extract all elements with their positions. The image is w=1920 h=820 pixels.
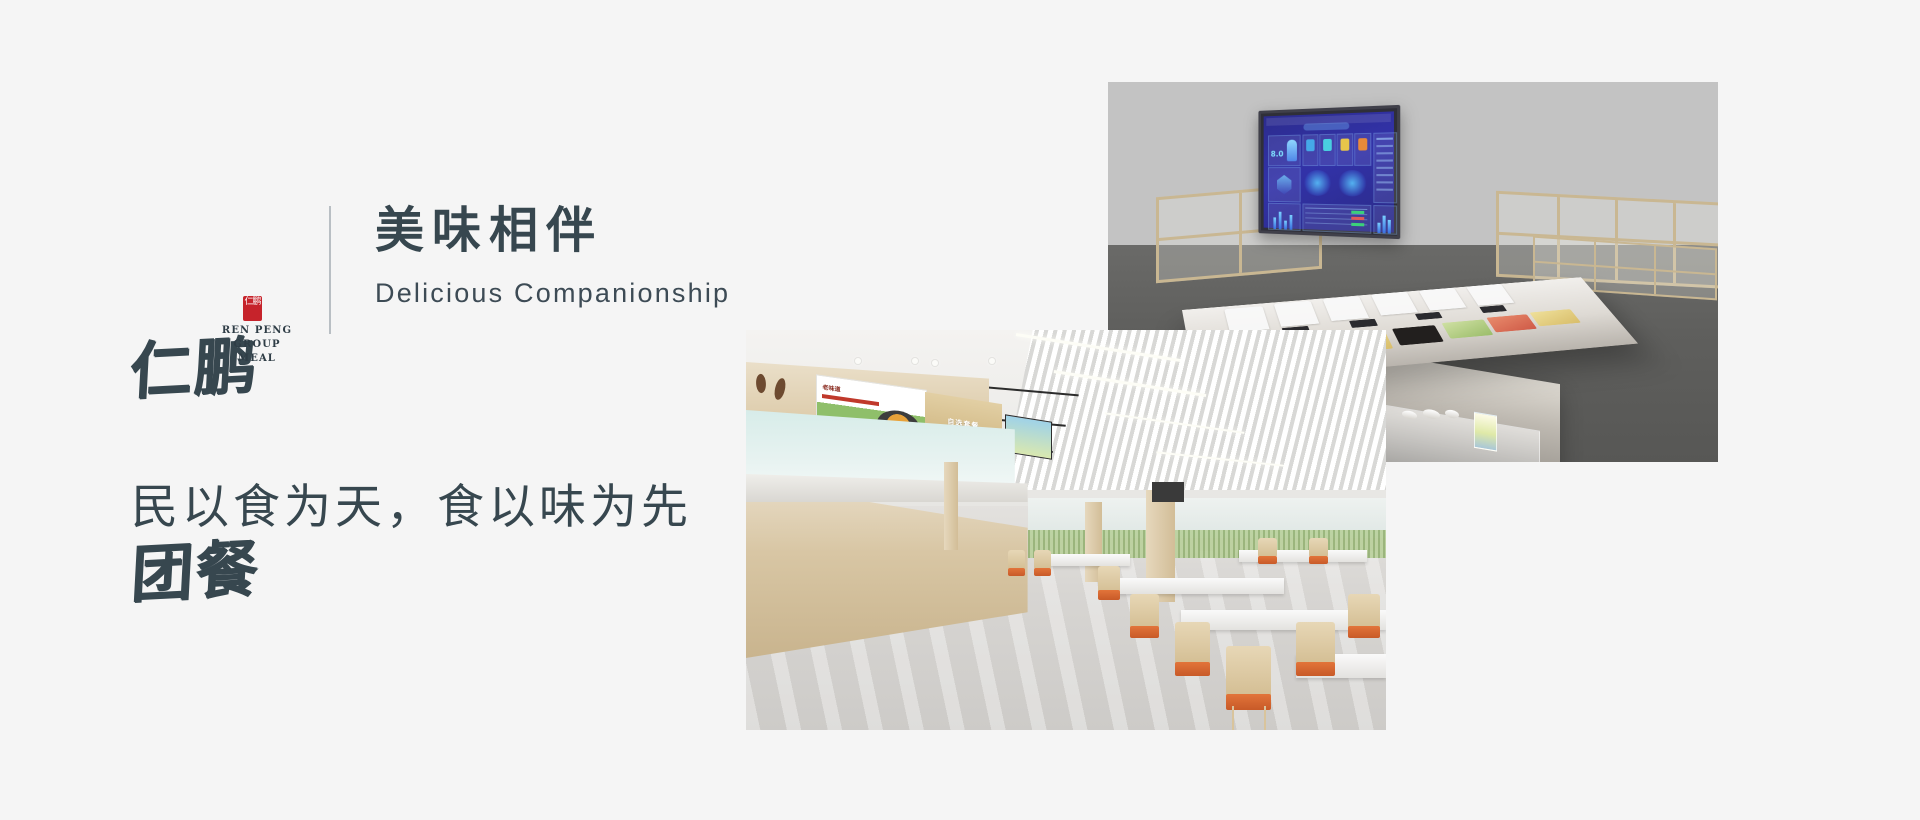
dining-chair-back-10	[1309, 538, 1328, 558]
sneeze-guard-4	[1371, 292, 1418, 316]
tagline-text: 民以食为天，食以味为先	[131, 468, 692, 537]
food-tray-2	[1442, 319, 1493, 338]
dining-chair-seat-6	[1348, 626, 1380, 638]
hall-pillar-3	[944, 462, 958, 550]
dining-chair-back-3	[1175, 622, 1210, 666]
dashboard-gauge-2	[1338, 170, 1368, 197]
dashboard-bars-right	[1373, 205, 1397, 235]
counter-poster-4	[1474, 412, 1498, 451]
vertical-divider	[329, 206, 331, 334]
wall-dashboard-screen: 8.0	[1258, 105, 1400, 239]
dashboard-card-radar	[1268, 167, 1301, 202]
dashboard-kpi-3	[1337, 133, 1354, 166]
dashboard-card-bars-left	[1268, 203, 1301, 231]
dining-chair-back-8	[1034, 550, 1051, 570]
headline-block: 美味相伴 Delicious Companionship	[375, 198, 730, 309]
cafeteria-interior-image: 老味道 自选套餐	[746, 330, 1386, 730]
dashboard-kpi-2	[1319, 134, 1335, 166]
dining-table-1	[1117, 578, 1283, 594]
brand-logo: 仁鹏 团餐 仁鹏 REN PENG GROUP MEAL	[133, 198, 303, 348]
dining-chair-back-7	[1008, 550, 1025, 570]
dining-table-4	[1040, 554, 1130, 566]
price-tag-screen-3	[1349, 319, 1377, 328]
marketing-banner: 仁鹏 团餐 仁鹏 REN PENG GROUP MEAL 美味相伴 Delici…	[0, 0, 1920, 820]
dining-chair-leg-2	[1264, 706, 1266, 730]
sneeze-guard-1	[1225, 306, 1270, 332]
dining-chair-seat-3	[1175, 662, 1210, 676]
headline-title-en: Delicious Companionship	[375, 278, 730, 309]
sneeze-guard-6	[1466, 284, 1515, 306]
headline-title-cn: 美味相伴	[375, 200, 730, 262]
price-tag-screen-4	[1415, 312, 1443, 320]
brand-block: 仁鹏 团餐 仁鹏 REN PENG GROUP MEAL 美味相伴 Delici…	[133, 198, 730, 348]
dashboard-kpi-4	[1354, 133, 1371, 166]
hall-downlight-3	[932, 360, 938, 366]
food-tray-3	[1486, 314, 1537, 332]
dashboard-avatar-icon	[1287, 140, 1297, 162]
sneeze-guard-5	[1419, 288, 1467, 311]
dashboard-score-value: 8.0	[1271, 150, 1284, 159]
dining-chair-seat-2	[1130, 626, 1159, 638]
food-tray-4	[1530, 309, 1581, 326]
brand-english-line2: GROUP	[221, 338, 293, 352]
brand-english-name: REN PENG GROUP MEAL	[221, 324, 293, 366]
dining-chair-back-6	[1348, 594, 1380, 630]
dining-chair-seat-1	[1098, 590, 1120, 600]
hall-poster-text: 老味道	[823, 382, 841, 394]
sneeze-guard-3	[1323, 296, 1370, 321]
dining-chair-back-2	[1130, 594, 1159, 630]
dining-chair-seat-5	[1296, 662, 1334, 676]
dining-chair-leg-1	[1232, 706, 1234, 730]
dashboard-kpi-1	[1302, 134, 1318, 166]
dining-chair-seat-9	[1258, 556, 1277, 564]
logo-calligraphy-line2: 团餐	[129, 533, 289, 609]
dashboard-card-score: 8.0	[1268, 135, 1301, 167]
dining-chair-seat-8	[1034, 568, 1051, 576]
dining-chair-seat-10	[1309, 556, 1328, 564]
induction-hob-3	[1392, 325, 1443, 345]
dashboard-title-bar	[1303, 122, 1350, 130]
brand-english-line1: REN PENG	[221, 324, 293, 338]
dashboard-content: 8.0	[1264, 111, 1394, 232]
dining-chair-back-4	[1226, 646, 1271, 698]
dining-chair-seat-7	[1008, 568, 1025, 576]
hall-ceiling-tv	[1152, 482, 1184, 502]
dashboard-gauge-1	[1303, 170, 1331, 196]
red-seal-stamp: 仁鹏	[243, 296, 262, 321]
dashboard-data-table	[1302, 203, 1371, 233]
price-tag-screen-5	[1479, 305, 1507, 313]
dining-chair-back-5	[1296, 622, 1334, 666]
sneeze-guard-2	[1274, 301, 1320, 327]
hall-poster-band	[823, 394, 880, 406]
brand-english-line3: MEAL	[221, 352, 293, 366]
hall-downlight-1	[855, 358, 861, 364]
hall-ceiling-slats	[1002, 330, 1386, 490]
dining-chair-back-9	[1258, 538, 1277, 558]
dashboard-side-list	[1373, 132, 1397, 203]
